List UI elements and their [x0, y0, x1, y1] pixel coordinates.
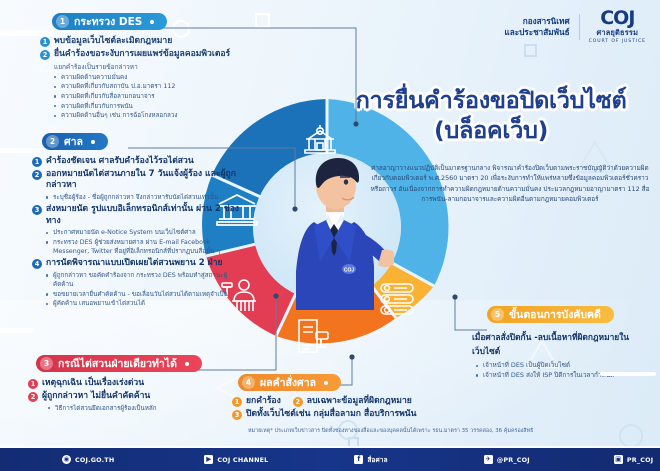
- decor-square-hdr: [524, 44, 537, 57]
- footer-label: COJ.GO.TH: [75, 456, 114, 464]
- item-text: คำร้องชัดเจน ศาลรับคำร้องไว้รอไต่สวน: [46, 156, 194, 167]
- footer-bar: ◉ COJ.GO.TH ▶ COJ CHANNEL f สื่อศาล ✈ @P…: [0, 448, 660, 471]
- item-number: 1: [40, 37, 50, 47]
- footer-item-website[interactable]: ◉ COJ.GO.TH: [62, 455, 114, 464]
- section-title-4: ผลคำสั่งศาล: [260, 374, 316, 391]
- list-item: 2 ออกหมายนัดไต่สวนภายใน 7 วันแจ้งผู้ร้อง…: [32, 169, 242, 192]
- footer-label: @PR_COJ: [497, 456, 530, 464]
- section-number-5: 5: [491, 308, 504, 321]
- section-anchor-dot-3: [185, 362, 189, 366]
- list-item: 2 ยื่นคำร้องขอระงับการเผยแพร่ข้อมูลคอมพิ…: [40, 49, 252, 60]
- section-anchor-dot-1: [150, 20, 154, 24]
- header-org-line2: และประชาสัมพันธ์: [504, 27, 569, 38]
- footer-label: สื่อศาล: [367, 455, 387, 465]
- item-bullets: ผู้ถูกกล่าวหา ขอคัดคำร้องจาก กระทรวง DES…: [46, 271, 242, 309]
- section-title-3: กรณีไต่สวนฝ่ายเดียวทำได้: [58, 355, 177, 372]
- twitter-icon: ✈: [484, 455, 493, 464]
- section-pill-5[interactable]: 5 ขั้นตอนการบังคับคดี: [487, 306, 614, 323]
- footer-label: PR_COJ: [627, 456, 654, 464]
- bullet: ผู้คัดค้าน เสนอพยานเข้าไต่สวนได้: [46, 299, 242, 308]
- document-gavel-icon: [292, 318, 332, 356]
- instagram-icon: ▣: [614, 455, 623, 464]
- footer-item-instagram[interactable]: ▣ PR_COJ: [614, 455, 654, 464]
- section-number-1: 1: [56, 15, 69, 28]
- item-number: 1: [28, 379, 38, 389]
- item-number: 2: [32, 170, 42, 180]
- section-pill-3[interactable]: 3 กรณีไต่สวนฝ่ายเดียวทำได้: [36, 355, 202, 372]
- bullet: กระทรวง DES ผู้ช่วยส่งหมายศาล ผ่าน E-mai…: [46, 238, 242, 256]
- bullet: ความผิดที่เกี่ยวกับสื่อลามกอนาจาร: [54, 92, 252, 101]
- bullet: ระบุชื่อผู้ร้อง - ชื่อผู้ถูกกล่าวหา จึงก…: [46, 193, 242, 202]
- footer-item-facebook[interactable]: f สื่อศาล: [354, 455, 387, 465]
- section-pill-2[interactable]: 2 ศาล: [42, 133, 108, 150]
- bullet: ขอขยายเวลายื่นคำคัดค้าน - ขอเลื่อนวันไต่…: [46, 290, 242, 299]
- section-title-1: กระทรวง DES: [74, 13, 142, 30]
- item-number: 3: [32, 205, 42, 215]
- item-text: ปิดทั้งเว็บไซต์เช่น กลุ่มสื่อลามก สื่อบร…: [246, 409, 417, 420]
- list-item: 1 คำร้องชัดเจน ศาลรับคำร้องไว้รอไต่สวน: [32, 156, 242, 167]
- title-line-1: การยื่นคำร้องขอปิดเว็บไซต์: [356, 86, 627, 115]
- section-number-4: 4: [242, 376, 255, 389]
- coj-logo-thai: ศาลยุติธรรม: [589, 27, 646, 39]
- item-bullets: ความผิดด้านความมั่นคง ความผิดที่เกี่ยวกั…: [54, 73, 252, 121]
- list-item: 1 ยกคำร้อง: [232, 396, 281, 407]
- item-text: ลบเฉพาะข้อมูลที่ผิดกฎหมาย: [307, 396, 412, 407]
- bullet: ความผิดด้านอื่นๆ เช่น การฉ้อโกงหลอกลวง: [54, 111, 252, 120]
- list-item: 2 ผู้ถูกกล่าวหา ไม่ยื่นคำคัดค้าน: [28, 391, 238, 402]
- header-org-line1: กองสารนิเทศ: [504, 16, 569, 27]
- section-body-4: 1 ยกคำร้อง 2 ลบเฉพาะข้อมูลที่ผิดกฎหมาย 3…: [232, 396, 494, 422]
- item-text: ออกหมายนัดไต่สวนภายใน 7 วันแจ้งผู้ร้อง แ…: [46, 169, 242, 192]
- item-text: เหตุฉุกเฉิน เป็นเรื่องเร่งด่วน: [42, 378, 144, 389]
- list-item: 1 เหตุฉุกเฉิน เป็นเรื่องเร่งด่วน: [28, 378, 238, 389]
- bullet: ประกาศหมายนัด e-Notice System บนเว็บไซต์…: [46, 228, 242, 237]
- decor-bar-s5: [600, 372, 656, 376]
- item-subheader: แยกคำร้องเป็นรายข้อกล่าวหา: [54, 62, 252, 72]
- bullet: ความผิดที่เกี่ยวกับการพนัน: [54, 102, 252, 111]
- footer-item-twitter[interactable]: ✈ @PR_COJ: [484, 455, 530, 464]
- item-text: พบข้อมูลเว็บไซต์ละเมิดกฎหมาย: [54, 36, 172, 47]
- section-number-2: 2: [46, 135, 59, 148]
- item-bullets: วิธีการไต่สวนยึดเอกสารผู้ร้องเป็นหลัก: [48, 404, 238, 413]
- header-divider: [579, 14, 580, 40]
- section-5-heading: เมื่อศาลสั่งปิดกั้น -ลบเนื้อหาที่ผิดกฎหม…: [472, 330, 654, 358]
- decor-bar-low: [0, 328, 34, 333]
- item-bullets: ประกาศหมายนัด e-Notice System บนเว็บไซต์…: [46, 228, 242, 256]
- header-org: กองสารนิเทศ และประชาสัมพันธ์: [504, 16, 569, 38]
- coj-logo-english: COURT OF JUSTICE: [589, 39, 646, 44]
- list-item: 1 พบข้อมูลเว็บไซต์ละเมิดกฎหมาย: [40, 36, 252, 47]
- title-description: ศาลอาญาวางแนวปฏิบัติเป็นมาตรฐานกลาง พิจา…: [366, 163, 654, 205]
- item-number: 3: [232, 410, 242, 420]
- facebook-icon: f: [354, 455, 363, 464]
- coj-logo-mark: COJ: [589, 10, 646, 27]
- item-number: 4: [32, 259, 42, 269]
- item-number: 1: [32, 157, 42, 167]
- section-4-note: หมายเหตุ* ประเภทเว็บข่าวสาร ปิดทั้งช่องท…: [248, 428, 568, 436]
- coj-logo: COJ ศาลยุติธรรม COURT OF JUSTICE: [589, 10, 646, 44]
- item-text: ยื่นคำร้องขอระงับการเผยแพร่ข้อมูลคอมพิวเ…: [54, 49, 230, 60]
- header-branding: กองสารนิเทศ และประชาสัมพันธ์ COJ ศาลยุติ…: [504, 10, 646, 44]
- item-number: 1: [232, 397, 242, 407]
- item-text: การนัดพิจารณาแบบเปิดเผยไต่สวนพยาน 2 ฝ่าย: [46, 258, 223, 269]
- decor-bar-mid: [0, 148, 42, 153]
- infographic-page: กองสารนิเทศ และประชาสัมพันธ์ COJ ศาลยุติ…: [0, 0, 660, 471]
- svg-text:COJ: COJ: [344, 268, 355, 274]
- globe-icon: ◉: [62, 455, 71, 464]
- section-pill-1[interactable]: 1 กระทรวง DES: [52, 13, 167, 30]
- bullet: ความผิดด้านความมั่นคง: [54, 73, 252, 82]
- youtube-icon: ▶: [204, 455, 213, 464]
- section-title-2: ศาล: [64, 133, 83, 150]
- item-text: ส่งหมายนัด รูปแบบอิเล็กทรอนิกส์เท่านั้น …: [46, 204, 242, 227]
- item-text: ยกคำร้อง: [246, 396, 281, 407]
- page-title: การยื่นคำร้องขอปิดเว็บไซต์ (บล็อคเว็บ): [330, 86, 652, 144]
- bullet: วิธีการไต่สวนยึดเอกสารผู้ร้องเป็นหลัก: [48, 404, 238, 413]
- list-item: 3 ส่งหมายนัด รูปแบบอิเล็กทรอนิกส์เท่านั้…: [32, 204, 242, 227]
- list-item: 3 ปิดทั้งเว็บไซต์เช่น กลุ่มสื่อลามก สื่อ…: [232, 409, 494, 420]
- section-body-3: 1 เหตุฉุกเฉิน เป็นเรื่องเร่งด่วน 2 ผู้ถู…: [28, 378, 238, 413]
- section-pill-4[interactable]: 4 ผลคำสั่งศาล: [238, 374, 341, 391]
- item-number: 2: [293, 397, 303, 407]
- footer-item-youtube[interactable]: ▶ COJ CHANNEL: [204, 455, 268, 464]
- section-body-1: 1 พบข้อมูลเว็บไซต์ละเมิดกฎหมาย 2 ยื่นคำร…: [40, 36, 252, 121]
- bullet: เจ้าหน้าที่ DES เป็นผู้ปิดเว็บไซต์: [476, 361, 654, 371]
- item-text: ผู้ถูกกล่าวหา ไม่ยื่นคำคัดค้าน: [42, 391, 150, 402]
- section-anchor-dot-2: [91, 140, 95, 144]
- section-title-5: ขั้นตอนการบังคับคดี: [509, 306, 601, 323]
- section-number-3: 3: [40, 357, 53, 370]
- decor-square-top: [255, 13, 270, 28]
- decor-circle-right: [619, 424, 643, 448]
- item-number: 2: [28, 392, 38, 402]
- item-bullets: ระบุชื่อผู้ร้อง - ชื่อผู้ถูกกล่าวหา จึงก…: [46, 193, 242, 202]
- section-body-2: 1 คำร้องชัดเจน ศาลรับคำร้องไว้รอไต่สวน 2…: [32, 156, 242, 309]
- item-number: 2: [40, 50, 50, 60]
- title-line-2: (บล็อคเว็บ): [434, 116, 548, 145]
- footer-label: COJ CHANNEL: [217, 456, 268, 464]
- bullet: ผู้ถูกกล่าวหา ขอคัดคำร้องจาก กระทรวง DES…: [46, 271, 242, 289]
- bullet: ความผิดที่เกี่ยวกับสถาบัน ป.อ.มาตรา 112: [54, 82, 252, 91]
- list-item: 4 การนัดพิจารณาแบบเปิดเผยไต่สวนพยาน 2 ฝ่…: [32, 258, 242, 269]
- section-anchor-dot-4: [324, 381, 328, 385]
- list-item: 2 ลบเฉพาะข้อมูลที่ผิดกฎหมาย: [293, 396, 412, 407]
